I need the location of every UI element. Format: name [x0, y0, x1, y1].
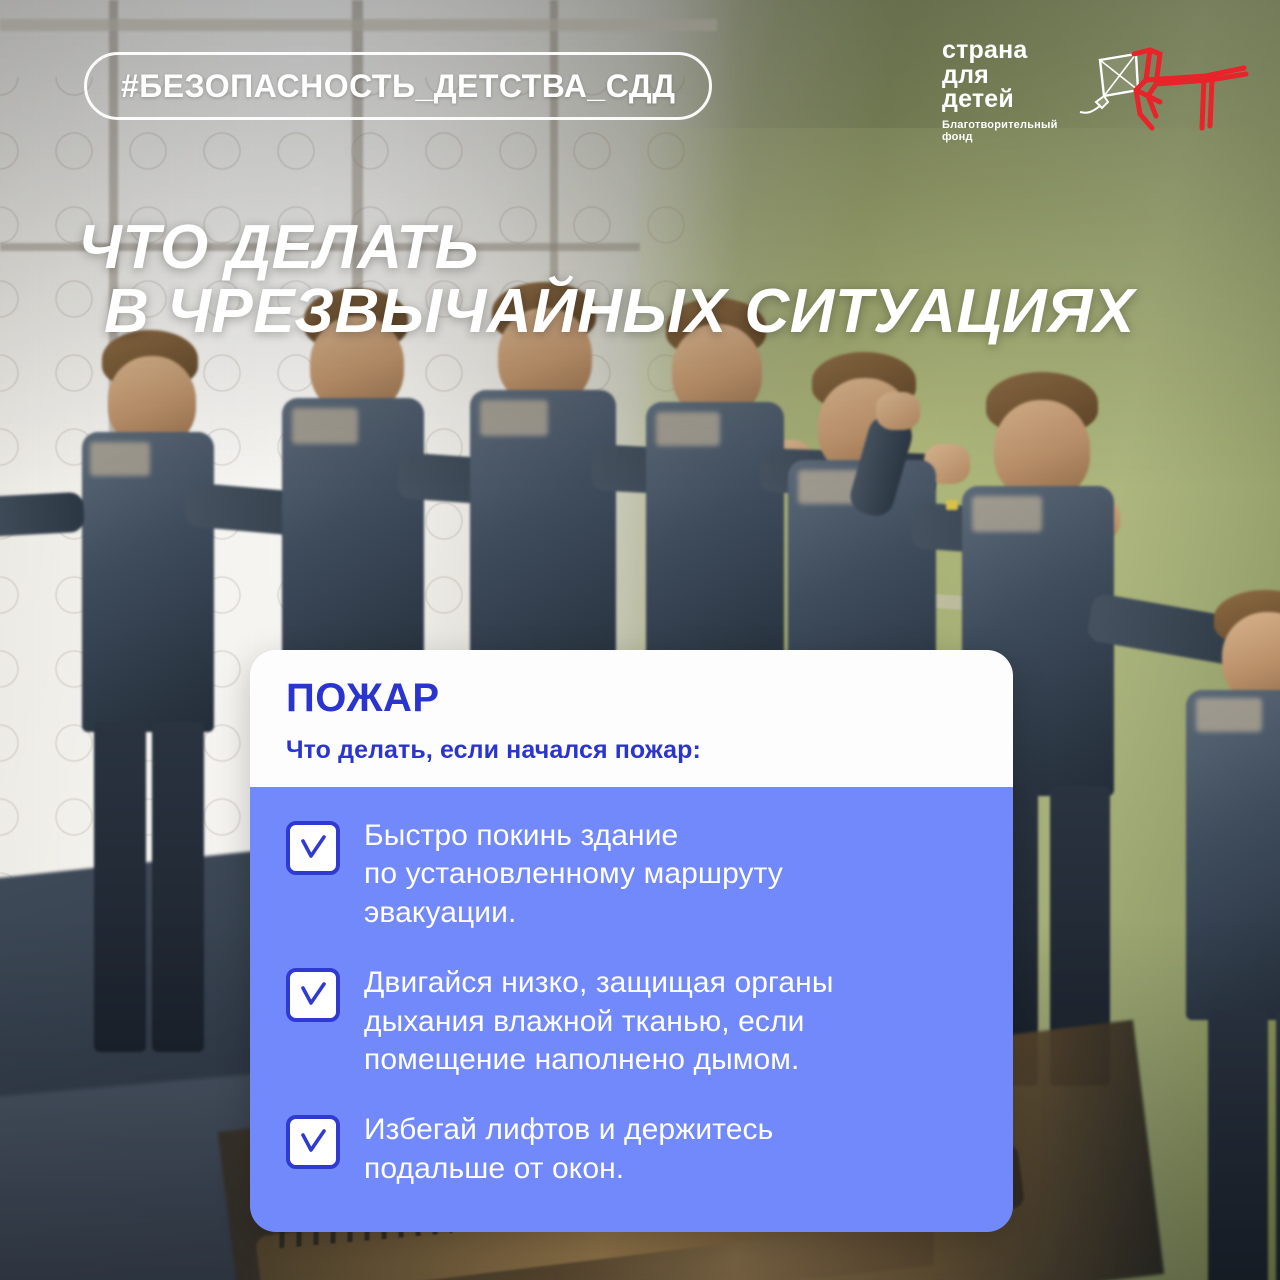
checklist-item: Двигайся низко, защищая органы дыхания в…: [286, 964, 977, 1079]
info-card-body: Быстро покинь здание по установленному м…: [250, 787, 1013, 1232]
checkmark-icon: [286, 968, 340, 1022]
checkmark-icon: [286, 1115, 340, 1169]
logo-line-2: для: [942, 63, 1090, 88]
info-card: ПОЖАР Что делать, если начался пожар: Бы…: [250, 650, 1013, 1232]
checklist-item-text: Быстро покинь здание по установленному м…: [364, 817, 783, 932]
info-card-header: ПОЖАР Что делать, если начался пожар:: [250, 650, 1013, 787]
page-title: ЧТО ДЕЛАТЬ В ЧРЕЗВЫЧАЙНЫХ СИТУАЦИЯХ: [78, 152, 1135, 407]
poster-root: #БЕЗОПАСНОСТЬ_ДЕТСТВА_СДД страна для дет…: [0, 0, 1280, 1280]
headline-line-1: ЧТО ДЕЛАТЬ: [78, 213, 479, 282]
logo-line-1: страна: [942, 38, 1090, 63]
info-card-title: ПОЖАР: [286, 678, 977, 718]
headline-line-2: В ЧРЕЗВЫЧАЙНЫХ СИТУАЦИЯХ: [78, 280, 1135, 344]
checklist-item-text: Избегай лифтов и держитесь подальше от о…: [364, 1111, 773, 1188]
logo-subtitle: Благотворительный фонд: [942, 119, 1090, 143]
checklist-item-text: Двигайся низко, защищая органы дыхания в…: [364, 964, 834, 1079]
checklist-item: Быстро покинь здание по установленному м…: [286, 817, 977, 932]
hashtag-badge: #БЕЗОПАСНОСТЬ_ДЕТСТВА_СДД: [84, 52, 712, 120]
logo-line-3: детей: [942, 87, 1090, 112]
red-dog-figure-icon: [1126, 40, 1254, 140]
info-card-subtitle: Что делать, если начался пожар:: [286, 736, 977, 765]
checklist-item: Избегай лифтов и держитесь подальше от о…: [286, 1111, 977, 1188]
logo-text-block: страна для детей: [942, 38, 1090, 112]
checkmark-icon: [286, 821, 340, 875]
brand-logo: страна для детей Благотворительный фонд: [942, 38, 1090, 143]
